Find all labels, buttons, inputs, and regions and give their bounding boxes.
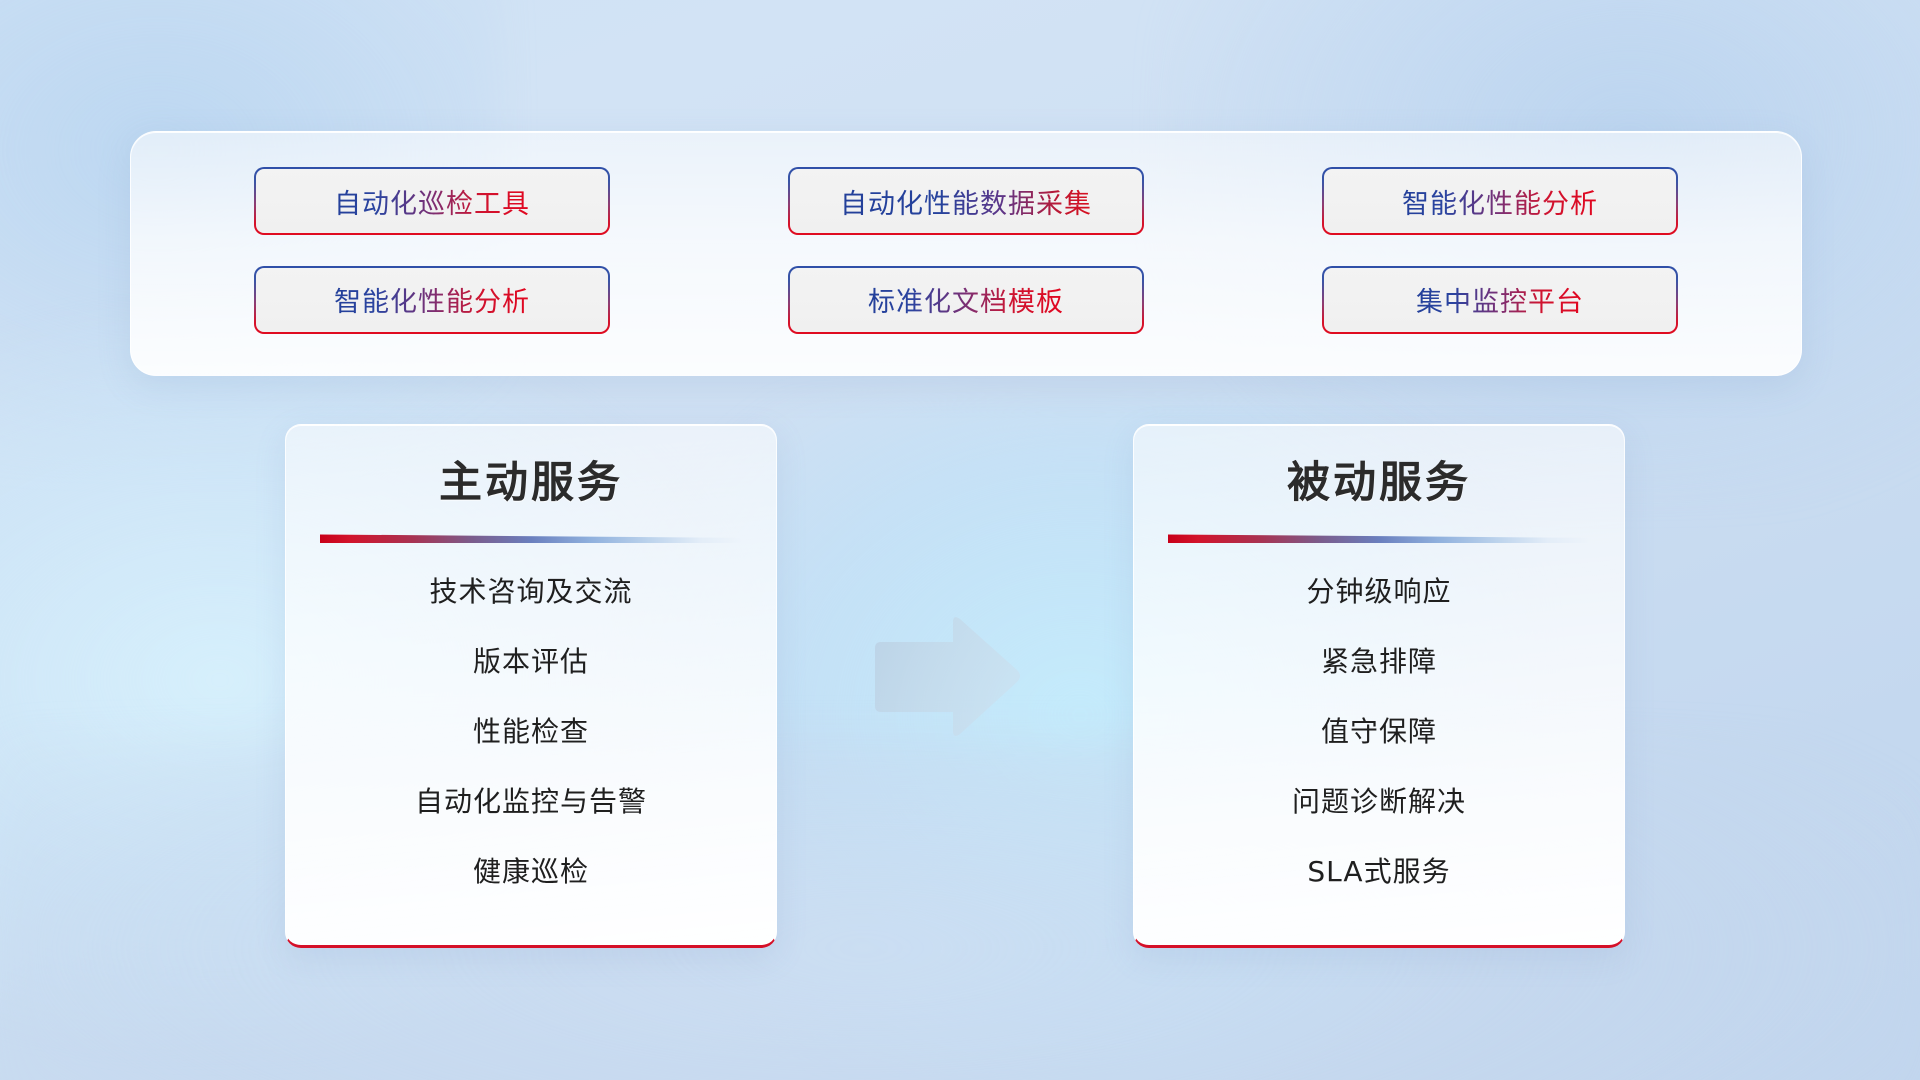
- card-divider: [1168, 534, 1590, 544]
- capability-box-6[interactable]: 集中监控平台: [1322, 266, 1678, 334]
- list-item: 分钟级响应: [1306, 578, 1451, 606]
- list-item: 紧急排障: [1321, 648, 1437, 676]
- active-service-title: 主动服务: [312, 459, 750, 508]
- active-service-list: 技术咨询及交流 版本评估 性能检查 自动化监控与告警 健康巡检: [312, 544, 750, 886]
- passive-service-title: 被动服务: [1160, 459, 1598, 508]
- list-item: SLA式服务: [1307, 858, 1450, 886]
- capability-box-1[interactable]: 自动化巡检工具: [254, 167, 610, 235]
- list-item: 值守保障: [1321, 718, 1437, 746]
- passive-service-card: 被动服务 分钟级响应 紧急排障 值守保障 问题诊断解决 SLA式服务: [1133, 424, 1625, 948]
- list-item: 自动化监控与告警: [415, 788, 647, 816]
- capability-box-3[interactable]: 智能化性能分析: [1322, 167, 1678, 235]
- active-service-card: 主动服务 技术咨询及交流 版本评估 性能检查 自动化监控与告警 健康巡检: [285, 424, 777, 948]
- capability-panel: 自动化巡检工具 自动化性能数据采集 智能化性能分析 智能化性能分析 标准化文档模…: [130, 131, 1802, 376]
- arrow-right-icon: [865, 612, 1025, 744]
- list-item: 问题诊断解决: [1292, 788, 1466, 816]
- list-item: 技术咨询及交流: [429, 578, 632, 606]
- capability-box-2[interactable]: 自动化性能数据采集: [788, 167, 1144, 235]
- capability-box-5[interactable]: 标准化文档模板: [788, 266, 1144, 334]
- capability-box-label: 智能化性能分析: [334, 280, 530, 319]
- capability-box-label: 集中监控平台: [1416, 280, 1584, 319]
- capability-box-label: 智能化性能分析: [1402, 182, 1598, 221]
- list-item: 性能检查: [473, 718, 589, 746]
- capability-box-4[interactable]: 智能化性能分析: [254, 266, 610, 334]
- capability-box-label: 自动化巡检工具: [334, 182, 530, 221]
- capability-box-label: 自动化性能数据采集: [840, 182, 1092, 221]
- capability-box-label: 标准化文档模板: [868, 280, 1064, 319]
- card-divider: [320, 534, 742, 544]
- passive-service-list: 分钟级响应 紧急排障 值守保障 问题诊断解决 SLA式服务: [1160, 544, 1598, 886]
- list-item: 健康巡检: [473, 858, 589, 886]
- list-item: 版本评估: [473, 648, 589, 676]
